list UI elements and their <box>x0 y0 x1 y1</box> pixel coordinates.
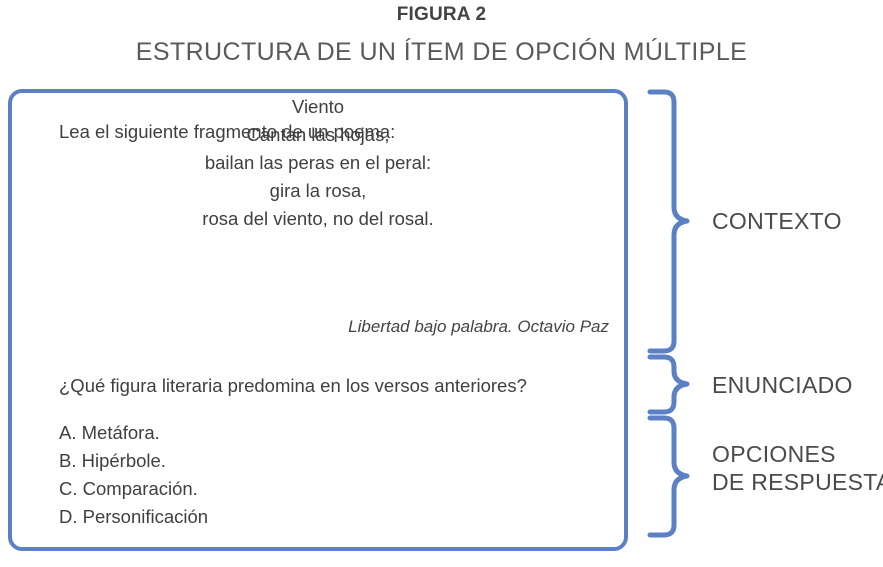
poem-line: rosa del viento, no del rosal. <box>12 205 624 233</box>
poem-line: Viento <box>12 93 624 121</box>
item-box: Lea el siguiente fragmento de un poema: … <box>8 89 628 551</box>
context-intro-text: Lea el siguiente fragmento de un poema: <box>59 123 395 142</box>
page-subtitle: ESTRUCTURA DE UN ÍTEM DE OPCIÓN MÚLTIPLE <box>0 38 883 67</box>
answer-options-list: A. Metáfora. B. Hipérbole. C. Comparació… <box>59 419 208 531</box>
brace-opciones <box>650 418 687 535</box>
brace-label-enunciado: ENUNCIADO <box>712 371 853 399</box>
brace-contexto <box>650 92 687 351</box>
list-item: B. Hipérbole. <box>59 447 208 475</box>
list-item: D. Personificación <box>59 503 208 531</box>
brace-label-opciones-line2: DE RESPUESTA <box>712 469 883 495</box>
list-item: C. Comparación. <box>59 475 208 503</box>
brace-label-opciones: OPCIONES DE RESPUESTA <box>712 440 883 496</box>
poem-block: Viento Cantan las hojas, bailan las pera… <box>12 93 624 233</box>
poem-line: gira la rosa, <box>12 177 624 205</box>
question-stem: ¿Qué figura literaria predomina en los v… <box>59 377 527 396</box>
poem-line: bailan las peras en el peral: <box>12 149 624 177</box>
page-title: FIGURA 2 <box>0 4 883 26</box>
brace-label-opciones-line1: OPCIONES <box>712 441 836 467</box>
brace-enunciado <box>650 357 687 412</box>
poem-source-attribution: Libertad bajo palabra. Octavio Paz <box>12 317 609 337</box>
list-item: A. Metáfora. <box>59 419 208 447</box>
brace-label-contexto: CONTEXTO <box>712 207 842 235</box>
